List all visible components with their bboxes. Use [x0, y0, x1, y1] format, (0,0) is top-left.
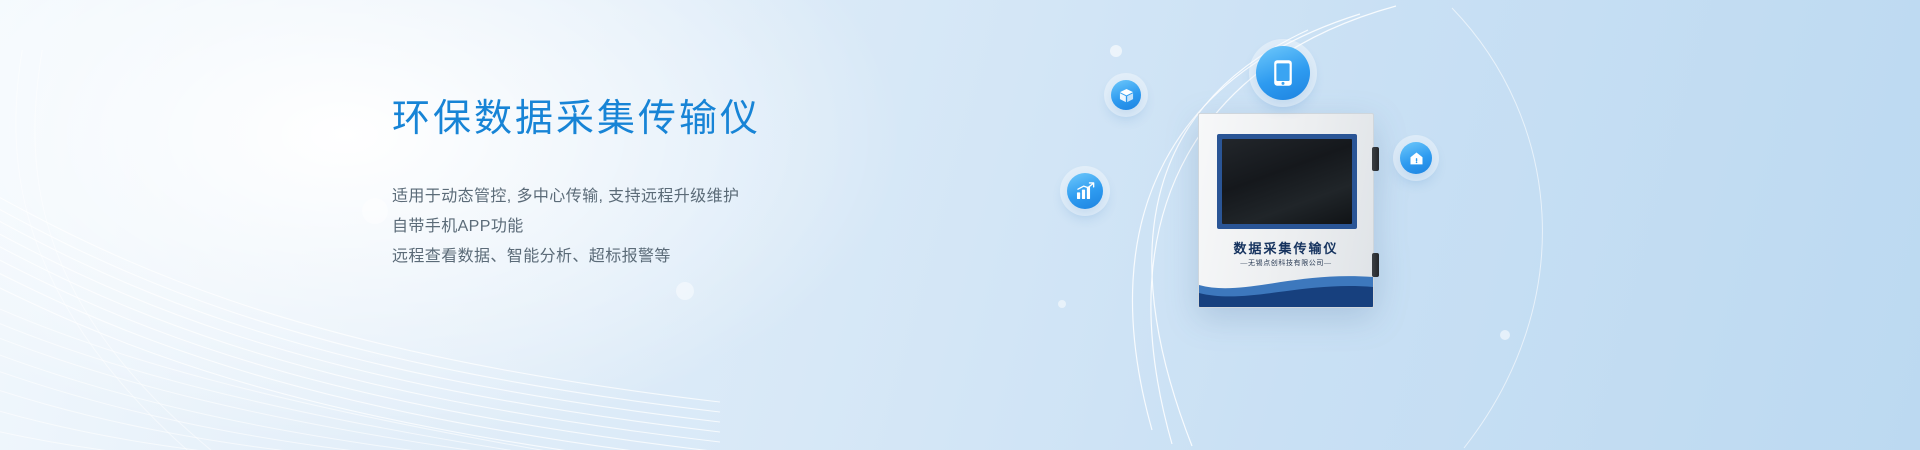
device-body: 数据采集传输仪 —无锡点创科技有限公司—: [1198, 113, 1374, 308]
product-showcase: 数据采集传输仪 —无锡点创科技有限公司—: [1060, 0, 1780, 450]
feature-description-list: 适用于动态管控, 多中心传输, 支持远程升级维护 自带手机APP功能 远程查看数…: [392, 182, 952, 272]
data-acquisition-device: 数据采集传输仪 —无锡点创科技有限公司—: [1198, 113, 1374, 308]
product-hero-banner: 环保数据采集传输仪 适用于动态管控, 多中心传输, 支持远程升级维护 自带手机A…: [0, 0, 1920, 450]
feature-line-1: 适用于动态管控, 多中心传输, 支持远程升级维护: [392, 182, 952, 212]
mobile-phone-icon[interactable]: [1256, 46, 1310, 100]
device-brand-label: 数据采集传输仪: [1199, 238, 1373, 257]
feature-line-3: 远程查看数据、智能分析、超标报警等: [392, 242, 952, 272]
device-wave-graphic: [1199, 265, 1373, 307]
hero-copy-block: 环保数据采集传输仪 适用于动态管控, 多中心传输, 支持远程升级维护 自带手机A…: [392, 96, 952, 272]
package-box-icon[interactable]: [1111, 80, 1141, 110]
device-hinge-top: [1372, 147, 1379, 171]
device-screen-bezel: [1217, 134, 1357, 229]
alarm-bell-icon[interactable]: [1400, 142, 1432, 174]
bar-chart-icon[interactable]: [1067, 173, 1103, 209]
decorative-bubble: [362, 198, 388, 224]
device-hinge-bottom: [1372, 253, 1379, 277]
decorative-bubble: [676, 282, 694, 300]
decorative-orbit-arcs: [1060, 0, 1780, 450]
feature-line-2: 自带手机APP功能: [392, 212, 952, 242]
device-screen: [1222, 139, 1352, 224]
page-title: 环保数据采集传输仪: [392, 96, 952, 144]
